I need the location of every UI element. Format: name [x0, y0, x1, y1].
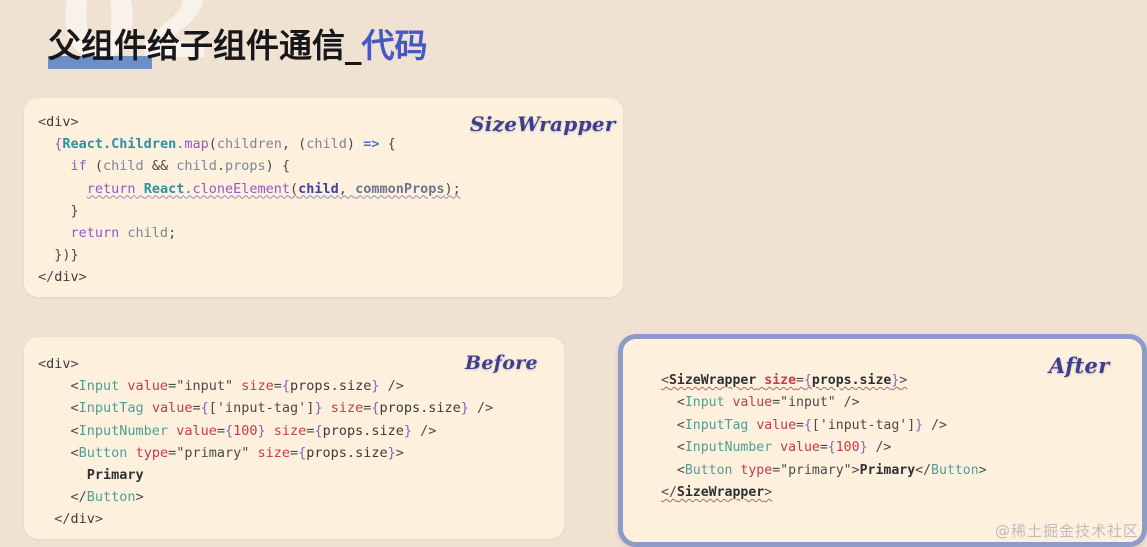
annotation-after: After [1049, 353, 1110, 378]
page-title-separator: _ [345, 26, 362, 65]
code-block-after: <SizeWrapper size={props.size}> <Input v… [661, 370, 1132, 504]
annotation-before: Before [465, 352, 538, 374]
page-title-main: 父组件给子组件通信 [48, 26, 345, 65]
slide-canvas: 02 父组件给子组件通信_代码 <div> {React.Children.ma… [0, 0, 1147, 547]
page-title: 父组件给子组件通信_代码 [48, 16, 428, 70]
annotation-sizewrapper: SizeWrapper [470, 112, 616, 136]
code-block-sizewrapper: <div> {React.Children.map(children, (chi… [38, 111, 1137, 289]
page-title-suffix: 代码 [362, 26, 428, 65]
